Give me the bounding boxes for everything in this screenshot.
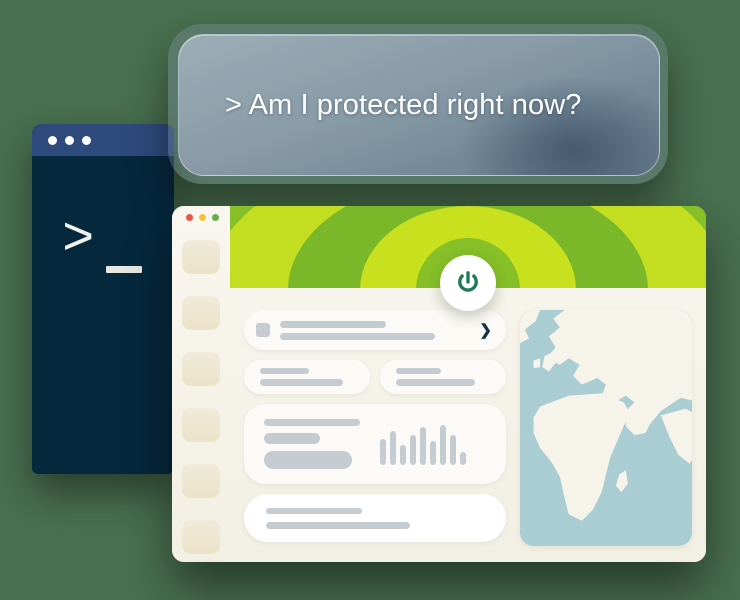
text-line xyxy=(260,368,309,374)
text-line xyxy=(280,321,386,328)
chevron-right-icon[interactable]: ❯ xyxy=(479,323,492,338)
chart-card-labels xyxy=(264,419,360,469)
stat-pill-2[interactable] xyxy=(380,360,506,394)
terminal-dot-1[interactable] xyxy=(48,136,57,145)
glass-prompt-frame: > Am I protected right now? xyxy=(168,24,668,184)
terminal-prompt-icon: > xyxy=(62,214,92,268)
world-map-icon xyxy=(520,310,692,546)
chart-bar xyxy=(400,445,406,465)
terminal-dot-3[interactable] xyxy=(82,136,91,145)
main-content: ❯ xyxy=(244,310,692,546)
detail-card-lines xyxy=(280,321,469,340)
text-line xyxy=(280,333,435,340)
sidebar-item-5[interactable] xyxy=(182,464,220,498)
text-line xyxy=(264,433,320,444)
prompt-question-text: > Am I protected right now? xyxy=(179,89,582,122)
activity-chart-card[interactable] xyxy=(244,404,506,484)
left-column: ❯ xyxy=(244,310,506,546)
text-line xyxy=(396,368,441,374)
chart-bar xyxy=(410,435,416,465)
terminal-caret xyxy=(106,266,142,273)
scene: > > Am I protected right now? xyxy=(0,0,740,600)
terminal-dot-2[interactable] xyxy=(65,136,74,145)
sidebar-item-4[interactable] xyxy=(182,408,220,442)
sidebar-item-2[interactable] xyxy=(182,296,220,330)
detail-card[interactable]: ❯ xyxy=(244,310,506,350)
right-column xyxy=(520,310,692,546)
chart-bar xyxy=(450,435,456,465)
terminal-titlebar xyxy=(32,124,174,156)
sidebar-item-1[interactable] xyxy=(182,240,220,274)
stat-pill-row xyxy=(244,360,506,394)
terminal-body[interactable]: > xyxy=(32,156,174,474)
power-button[interactable] xyxy=(440,255,496,311)
sidebar-nav xyxy=(172,206,230,562)
chart-bar xyxy=(460,452,466,465)
sidebar-item-3[interactable] xyxy=(182,352,220,386)
text-line xyxy=(264,451,352,469)
text-line xyxy=(266,522,410,529)
glass-prompt-card[interactable]: > Am I protected right now? xyxy=(178,34,660,176)
chart-bar xyxy=(440,425,446,465)
chart-bar xyxy=(430,441,436,465)
world-map-card[interactable] xyxy=(520,310,692,546)
text-line xyxy=(264,419,360,426)
stat-pill-1[interactable] xyxy=(244,360,370,394)
text-line xyxy=(396,379,475,386)
chart-bar xyxy=(420,427,426,465)
text-line xyxy=(260,379,343,386)
text-line xyxy=(266,508,362,514)
square-icon xyxy=(256,323,270,337)
sidebar-item-6[interactable] xyxy=(182,520,220,554)
terminal-window[interactable]: > xyxy=(32,124,174,474)
chart-bar xyxy=(390,431,396,465)
summary-card[interactable] xyxy=(244,494,506,542)
power-icon xyxy=(455,270,481,296)
chart-bar xyxy=(380,439,386,465)
app-window[interactable]: ❯ xyxy=(172,206,706,562)
mini-bar-chart xyxy=(380,423,466,465)
